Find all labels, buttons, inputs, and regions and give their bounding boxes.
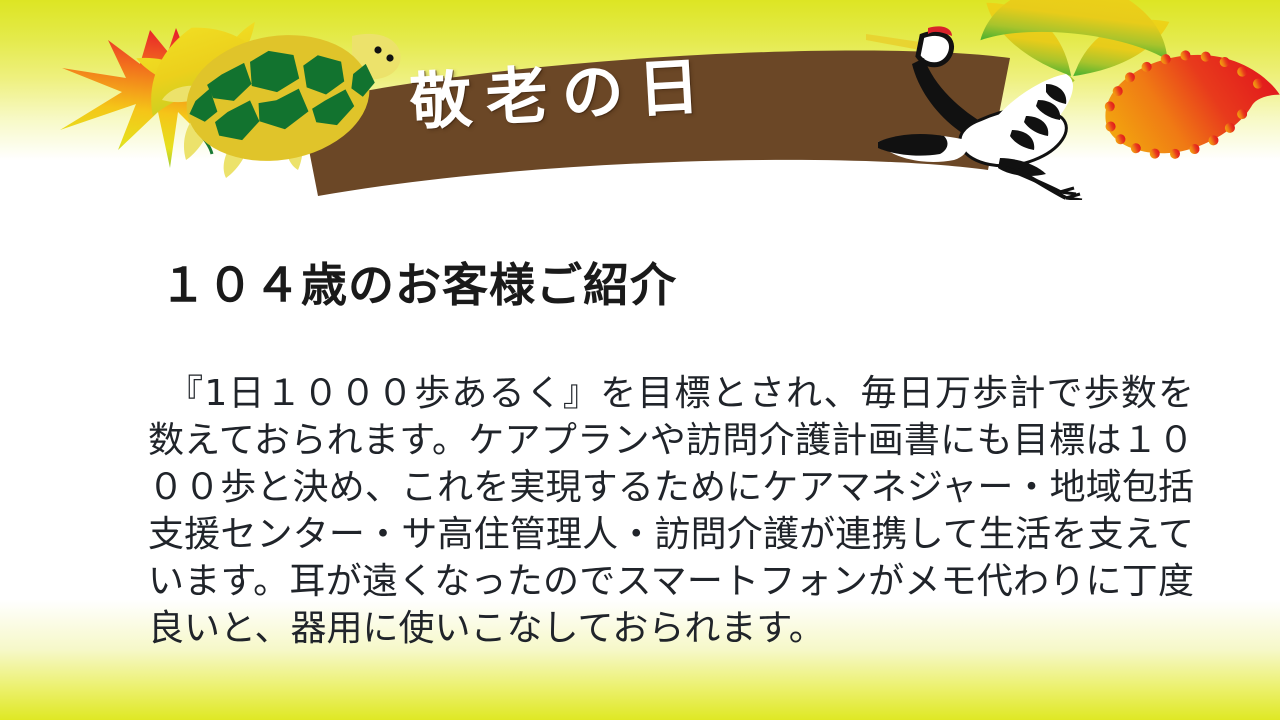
slide-body-paragraph: 『1日１０００歩あるく』を目標とされ、毎日万歩計で歩数を数えておられます。ケアプ…: [148, 370, 1194, 652]
header-decoration-artwork: [0, 0, 1280, 200]
slide-canvas: 敬老の日 １０４歳のお客様ご紹介 『1日１０００歩あるく』を目標とされ、毎日万歩…: [0, 0, 1280, 720]
slide-title: １０４歳のお客様ご紹介: [160, 253, 1160, 317]
banner-ribbon-shape: [300, 50, 1010, 196]
